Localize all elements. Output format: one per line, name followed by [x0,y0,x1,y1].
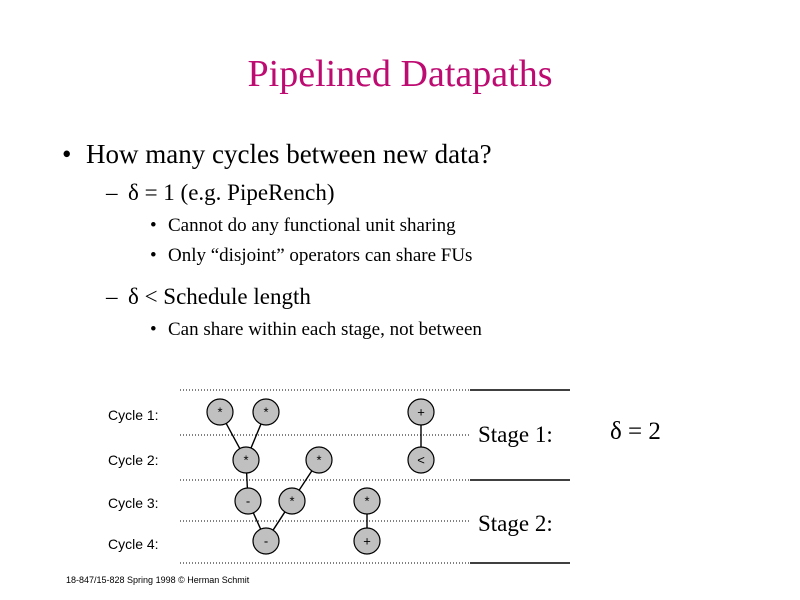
cycle-label: Cycle 3: [108,495,159,511]
operator-node-label: * [364,494,369,509]
operator-node[interactable]: * [233,447,259,473]
operator-node-circle [408,447,434,473]
operator-node[interactable]: * [354,488,380,514]
operator-node-circle [253,399,279,425]
bullet-level3: •Cannot do any functional unit sharing [0,211,800,241]
operator-node-circle [235,488,261,514]
operator-node-circle [354,528,380,554]
operator-node-label: * [289,494,294,509]
operator-node-label: * [316,453,321,468]
cycle-label: Cycle 1: [108,407,159,423]
operator-node[interactable]: < [408,447,434,473]
dataflow-edge [299,470,313,491]
slide-canvas: Pipelined Datapaths •How many cycles bet… [0,0,800,600]
operator-node[interactable]: + [354,528,380,554]
bullet-marker: – [106,175,128,210]
stage-label: Stage 2: [478,511,553,537]
operator-node-circle [354,488,380,514]
operator-node-label: - [264,534,268,549]
operator-node-circle [306,447,332,473]
dataflow-edge [247,472,248,489]
bullet-level3: •Can share within each stage, not betwee… [0,315,800,345]
operator-node-circle [207,399,233,425]
operator-node-label: - [246,494,250,509]
operator-node-label: * [263,405,268,420]
operator-node-circle [233,447,259,473]
dataflow-edge [253,512,261,530]
bullet-marker: • [150,211,168,241]
slide-footer: 18-847/15-828 Spring 1998 © Herman Schmi… [66,575,249,585]
bullet-text: Only “disjoint” operators can share FUs [168,241,472,271]
operator-node-circle [253,528,279,554]
page-title: Pipelined Datapaths [0,52,800,96]
bullet-marker: • [62,135,86,173]
operator-node[interactable]: * [279,488,305,514]
bullet-list: •How many cycles between new data? –δ = … [0,135,800,345]
bullet-text: δ = 1 (e.g. PipeRench) [128,175,334,210]
operator-node-circle [408,399,434,425]
operator-node-label: * [243,453,248,468]
bullet-level3: •Only “disjoint” operators can share FUs [0,241,800,271]
bullet-marker: • [150,241,168,271]
cycle-label: Cycle 4: [108,536,159,552]
dataflow-edge [273,511,286,531]
cycle-label: Cycle 2: [108,452,159,468]
operator-node-label: + [417,405,425,420]
operator-node[interactable]: + [408,399,434,425]
bullet-level2: –δ = 1 (e.g. PipeRench) [0,175,800,210]
operator-node-label: * [217,405,222,420]
bullet-marker: – [106,279,128,314]
bullet-text: Cannot do any functional unit sharing [168,211,456,241]
bullet-text: δ < Schedule length [128,279,311,314]
bullet-text: Can share within each stage, not between [168,315,482,345]
delta-value-label: δ = 2 [610,418,661,446]
bullet-level1: •How many cycles between new data? [0,135,800,173]
dataflow-edge [226,423,241,450]
operator-node[interactable]: * [306,447,332,473]
operator-node[interactable]: - [253,528,279,554]
operator-node-circle [279,488,305,514]
bullet-level2: –δ < Schedule length [0,279,800,314]
bullet-marker: • [150,315,168,345]
operator-node[interactable]: * [253,399,279,425]
stage-label: Stage 1: [478,422,553,448]
bullet-text: How many cycles between new data? [86,135,492,173]
operator-node[interactable]: * [207,399,233,425]
dataflow-edge [251,423,262,449]
operator-node-label: < [417,453,425,468]
operator-node[interactable]: - [235,488,261,514]
operator-node-label: + [363,534,371,549]
